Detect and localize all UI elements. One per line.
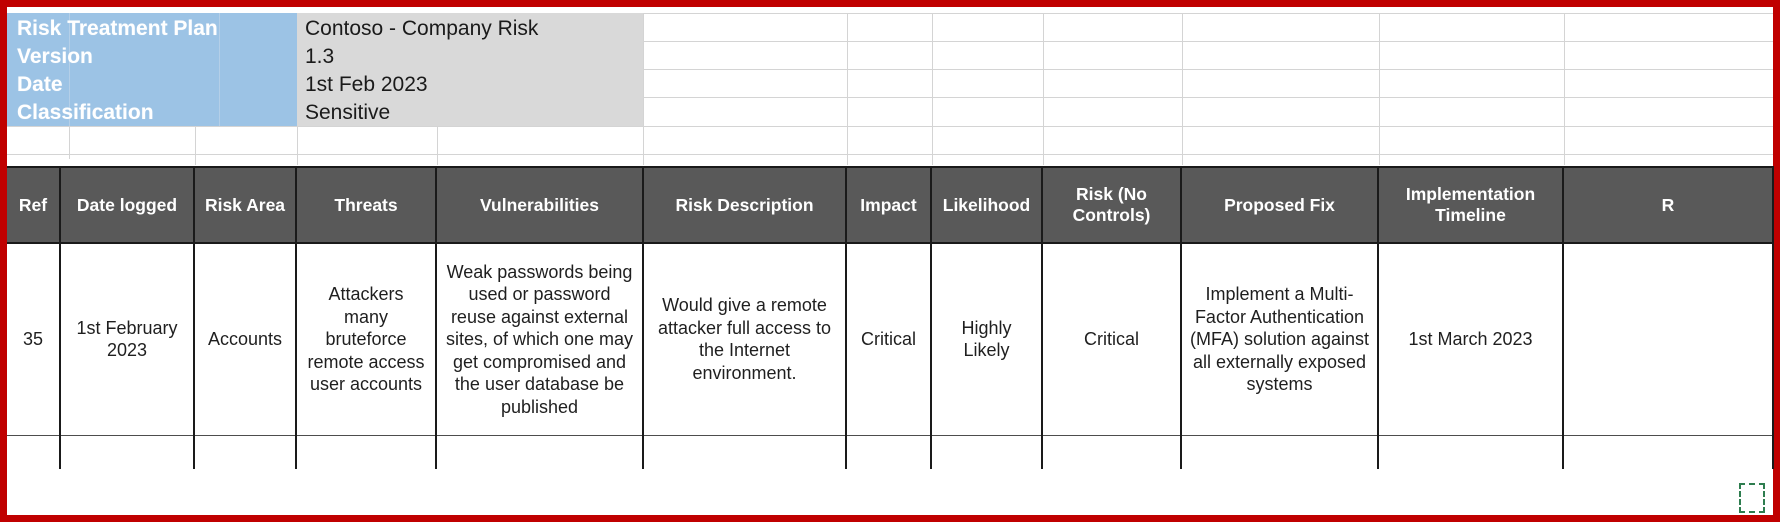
cell-ref[interactable]: 35 [7, 243, 60, 435]
empty-cell[interactable] [1042, 435, 1181, 469]
cell-proposed-fix[interactable]: Implement a Multi-Factor Authentication … [1181, 243, 1378, 435]
empty-cell[interactable] [931, 435, 1042, 469]
gridline-vertical [847, 13, 848, 165]
column-header-impact[interactable]: Impact [846, 167, 931, 243]
column-header-likelihood[interactable]: Likelihood [931, 167, 1042, 243]
spreadsheet-red-border-frame: Risk Treatment Plan Version Date Classif… [0, 0, 1780, 522]
empty-cell[interactable] [846, 435, 931, 469]
value-company-risk: Contoso - Company Risk [305, 15, 538, 43]
cell-threats[interactable]: Attackers many bruteforce remote access … [296, 243, 436, 435]
table-header-row: Ref Date logged Risk Area Threats Vulner… [7, 167, 1773, 243]
value-classification: Sensitive [305, 99, 390, 127]
empty-cell[interactable] [1378, 435, 1563, 469]
cell-likelihood[interactable]: Highly Likely [931, 243, 1042, 435]
column-header-implementation-timeline[interactable]: Implementation Timeline [1378, 167, 1563, 243]
gridline-vertical [643, 13, 644, 165]
gridline-vertical [69, 126, 70, 159]
risk-register-table[interactable]: Ref Date logged Risk Area Threats Vulner… [7, 166, 1774, 469]
empty-cell[interactable] [436, 435, 643, 469]
column-header-date-logged[interactable]: Date logged [60, 167, 194, 243]
empty-cell[interactable] [643, 435, 846, 469]
cell-risk-description[interactable]: Would give a remote attacker full access… [643, 243, 846, 435]
spreadsheet-grid-area[interactable]: Risk Treatment Plan Version Date Classif… [7, 7, 1773, 515]
value-date: 1st Feb 2023 [305, 71, 428, 99]
empty-cell[interactable] [1563, 435, 1773, 469]
column-header-risk-no-controls[interactable]: Risk (No Controls) [1042, 167, 1181, 243]
cell-risk-area[interactable]: Accounts [194, 243, 296, 435]
label-classification: Classification [17, 99, 154, 127]
empty-cell[interactable] [7, 435, 60, 469]
gridline-vertical [1043, 13, 1044, 165]
gridline-vertical [219, 13, 220, 126]
gridline-vertical [932, 13, 933, 165]
cell-clipped-residual[interactable] [1563, 243, 1773, 435]
cell-risk-no-controls[interactable]: Critical [1042, 243, 1181, 435]
empty-cell[interactable] [60, 435, 194, 469]
table-empty-trailing-row[interactable] [7, 435, 1773, 469]
gridline-vertical [1182, 13, 1183, 165]
gridline-vertical [1564, 13, 1565, 165]
gridline-vertical [1379, 13, 1380, 165]
column-header-risk-area[interactable]: Risk Area [194, 167, 296, 243]
column-header-vulnerabilities[interactable]: Vulnerabilities [436, 167, 643, 243]
column-header-proposed-fix[interactable]: Proposed Fix [1181, 167, 1378, 243]
empty-cell[interactable] [1181, 435, 1378, 469]
column-header-threats[interactable]: Threats [296, 167, 436, 243]
column-header-clipped-residual[interactable]: R [1563, 167, 1773, 243]
empty-cell[interactable] [296, 435, 436, 469]
cell-date-logged[interactable]: 1st February 2023 [60, 243, 194, 435]
column-header-ref[interactable]: Ref [7, 167, 60, 243]
gridline-horizontal [7, 126, 1773, 127]
cell-impact[interactable]: Critical [846, 243, 931, 435]
label-risk-treatment-plan: Risk Treatment Plan [17, 15, 218, 43]
empty-cell[interactable] [194, 435, 296, 469]
label-date: Date [17, 71, 63, 99]
column-header-risk-description[interactable]: Risk Description [643, 167, 846, 243]
gridline-horizontal [7, 154, 1773, 155]
document-title-value-block[interactable]: Contoso - Company Risk 1.3 1st Feb 2023 … [297, 13, 643, 126]
cell-vulnerabilities[interactable]: Weak passwords being used or password re… [436, 243, 643, 435]
table-row[interactable]: 35 1st February 2023 Accounts Attackers … [7, 243, 1773, 435]
value-version: 1.3 [305, 43, 334, 71]
label-version: Version [17, 43, 93, 71]
active-cell-selection-marker[interactable] [1739, 483, 1765, 513]
cell-implementation-timeline[interactable]: 1st March 2023 [1378, 243, 1563, 435]
